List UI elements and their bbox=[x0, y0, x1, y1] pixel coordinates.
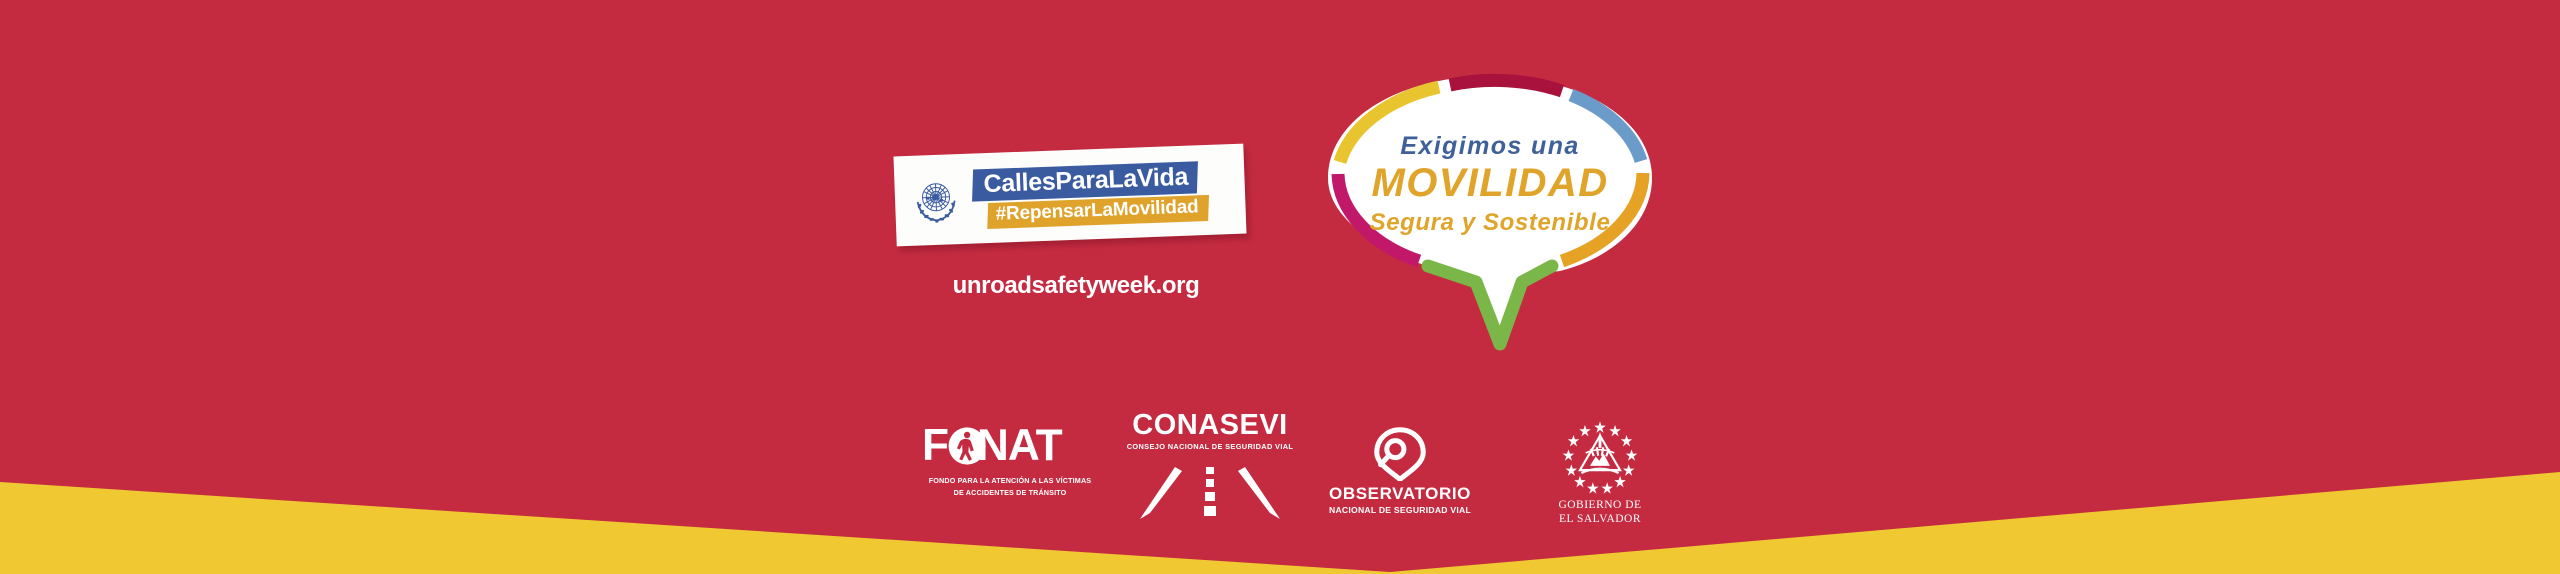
logo-fonat: F NAT FONDO PARA LA ATENCIÓN A LAS VÍCTI… bbox=[920, 423, 1100, 497]
calles-para-la-vida-label: CallesParaLaVida bbox=[983, 163, 1188, 197]
partner-logo-row: F NAT FONDO PARA LA ATENCIÓN A LAS VÍCTI… bbox=[920, 405, 1680, 530]
logo-gobierno-el-salvador: GOBIERNO DE EL SALVADOR bbox=[1520, 417, 1680, 527]
observatorio-title: OBSERVATORIO bbox=[1305, 485, 1495, 503]
coat-of-arms-center bbox=[1580, 432, 1620, 473]
observatorio-subtitle: NACIONAL DE SEGURIDAD VIAL bbox=[1305, 505, 1495, 515]
logo-observatorio: OBSERVATORIO NACIONAL DE SEGURIDAD VIAL bbox=[1305, 425, 1495, 515]
logo-conasevi: CONASEVI CONSEJO NACIONAL DE SEGURIDAD V… bbox=[1120, 411, 1300, 530]
fonat-letter-f: F bbox=[922, 423, 948, 469]
un-calles-para-la-vida-sticker: CallesParaLaVida #RepensarLaMovilidad bbox=[893, 144, 1246, 247]
repensar-la-movilidad-label: #RepensarLaMovilidad bbox=[995, 198, 1199, 226]
movilidad-segura-speech-bubble-logo: Exigimos una MOVILIDAD Segura y Sostenib… bbox=[1300, 60, 1680, 360]
conasevi-subtitle: CONSEJO NACIONAL DE SEGURIDAD VIAL bbox=[1120, 442, 1300, 451]
gobierno-line-1: GOBIERNO DE bbox=[1520, 498, 1680, 512]
sticker-text-bars: CallesParaLaVida #RepensarLaMovilidad bbox=[972, 158, 1236, 230]
un-emblem-icon bbox=[908, 172, 964, 228]
fonat-wordmark: F NAT bbox=[922, 423, 1099, 469]
fonat-subtitle-line1: FONDO PARA LA ATENCIÓN A LAS VÍCTIMAS bbox=[920, 476, 1100, 486]
un-road-safety-week-block: CallesParaLaVida #RepensarLaMovilidad un… bbox=[895, 150, 1285, 320]
conasevi-wordmark: CONASEVI bbox=[1120, 411, 1300, 440]
gobierno-line-2: EL SALVADOR bbox=[1520, 512, 1680, 526]
website-url: unroadsafetyweek.org bbox=[901, 272, 1251, 300]
road-perspective-icon bbox=[1120, 453, 1300, 525]
campaign-banner: CallesParaLaVida #RepensarLaMovilidad un… bbox=[0, 0, 2560, 574]
fonat-subtitle-line2: DE ACCIDENTES DE TRÁNSITO bbox=[920, 488, 1100, 498]
repensar-la-movilidad-bar: #RepensarLaMovilidad bbox=[987, 195, 1209, 229]
el-salvador-coat-of-arms-icon bbox=[1557, 417, 1643, 496]
calles-para-la-vida-bar: CallesParaLaVida bbox=[972, 161, 1197, 201]
map-pin-magnifier-icon bbox=[1369, 425, 1431, 481]
fonat-letters-nat: NAT bbox=[976, 423, 1062, 469]
